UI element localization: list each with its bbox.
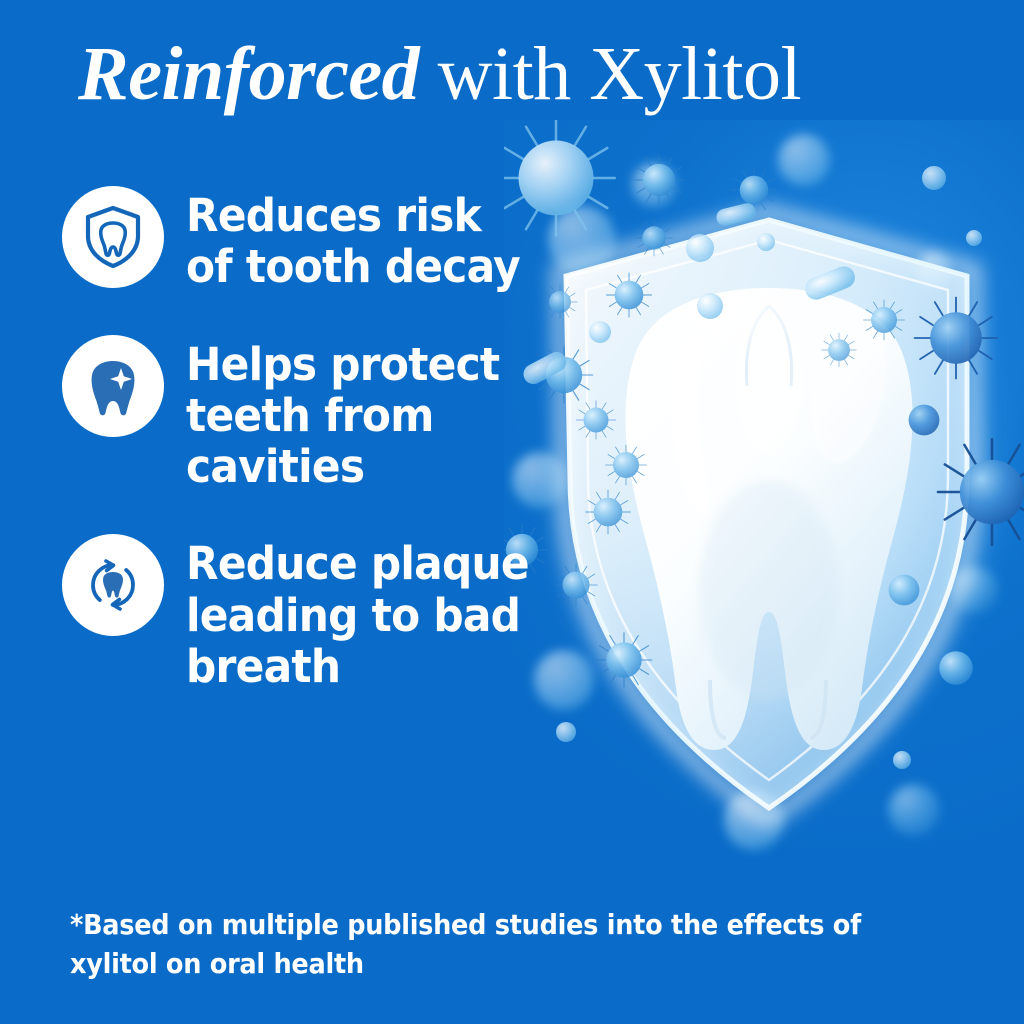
benefit-list: Reduces risk of tooth decay Helps protec…	[62, 186, 582, 692]
benefit-line: of tooth decay	[186, 241, 520, 292]
benefit-item: Reduces risk of tooth decay	[62, 186, 582, 293]
benefit-line: teeth from	[186, 390, 499, 441]
benefit-line: breath	[186, 641, 529, 692]
ad-banner: Reinforced with Xylitol Reduces risk of …	[0, 0, 1024, 1024]
benefit-text: Reduce plaque leading to bad breath	[186, 534, 529, 692]
benefit-line: cavities	[186, 441, 499, 492]
tooth-refresh-arrows-icon	[80, 552, 146, 618]
benefit-item: Helps protect teeth from cavities	[62, 335, 582, 493]
benefit-line: leading to bad	[186, 590, 529, 641]
germ-dark	[939, 651, 973, 685]
benefit-icon-badge	[62, 534, 164, 636]
hero-illustration	[504, 120, 1024, 880]
title-regular: with Xylitol	[419, 32, 801, 116]
germ-mid	[889, 575, 920, 606]
benefit-icon-badge	[62, 186, 164, 288]
benefit-line: Helps protect	[186, 339, 499, 390]
germ-dark	[909, 405, 940, 436]
page-title: Reinforced with Xylitol	[78, 36, 801, 112]
hero-image	[504, 120, 1024, 880]
benefit-line: Reduce plaque	[186, 538, 529, 589]
tooth-sparkle-icon	[82, 355, 144, 417]
benefit-icon-badge	[62, 335, 164, 437]
benefit-line: Reduces risk	[186, 190, 520, 241]
shield-tooth-icon	[80, 204, 146, 270]
benefit-text: Reduces risk of tooth decay	[186, 186, 520, 293]
benefit-text: Helps protect teeth from cavities	[186, 335, 499, 493]
title-italic: Reinforced	[78, 32, 419, 116]
footnote-disclaimer: *Based on multiple published studies int…	[70, 906, 888, 984]
benefit-item: Reduce plaque leading to bad breath	[62, 534, 582, 692]
